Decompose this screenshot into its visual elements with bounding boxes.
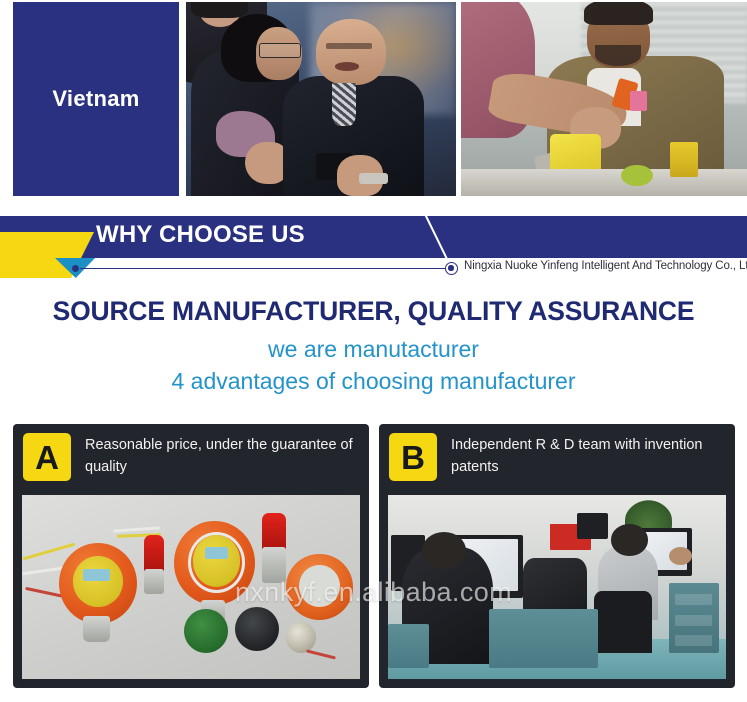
- demo-customer-hair: [584, 2, 653, 25]
- office-cubicle-partition-left: [388, 624, 429, 668]
- product-detector-left-lcd: [83, 569, 110, 582]
- office-cabinet-drawer-2: [675, 615, 712, 626]
- demo-sensor-probe-tip: [630, 91, 647, 110]
- headline-block: SOURCE MANUFACTURER, QUALITY ASSURANCE w…: [0, 296, 747, 397]
- card-a-title: Reasonable price, under the guarantee of…: [85, 435, 357, 479]
- demo-desk: [461, 169, 747, 196]
- meeting-client-brow: [326, 43, 372, 49]
- card-a-photo: [22, 495, 360, 679]
- meeting-client-mouth: [335, 62, 359, 71]
- demo-customer-beard: [595, 45, 641, 66]
- banner-start-dot-icon: [72, 265, 79, 272]
- card-a-badge: A: [23, 433, 71, 481]
- product-alarm-base-large: [262, 547, 286, 584]
- meeting-sales-rep-glasses: [259, 43, 302, 59]
- headline-main: SOURCE MANUFACTURER, QUALITY ASSURANCE: [0, 296, 747, 326]
- card-b-title: Independent R & D team with invention pa…: [451, 435, 723, 479]
- product-sensor-module: [286, 622, 316, 653]
- product-demo-photo: [461, 2, 747, 196]
- office-engineer-back-hand: [669, 547, 693, 565]
- office-engineer-foreground-head: [422, 532, 466, 569]
- card-a-header: A Reasonable price, under the guarantee …: [13, 424, 369, 490]
- meeting-client-watch: [359, 173, 389, 185]
- top-photo-strip: Vietnam: [0, 0, 747, 198]
- meeting-client-head: [316, 19, 386, 85]
- product-detector-shell-window: [299, 565, 340, 607]
- vietnam-label: Vietnam: [52, 86, 139, 112]
- banner-diagonal-slash: [424, 214, 450, 265]
- why-choose-us-banner: WHY CHOOSE US Ningxia Nuoke Yinfeng Inte…: [0, 216, 747, 278]
- office-monitor-far-back: [577, 513, 607, 539]
- product-pcb-black: [235, 607, 279, 651]
- office-chair-right: [594, 591, 651, 654]
- office-cubicle-partition-center: [489, 609, 597, 668]
- card-b-badge: B: [389, 433, 437, 481]
- advantage-card-a: A Reasonable price, under the guarantee …: [13, 424, 369, 688]
- banner-end-target-icon: [445, 262, 458, 275]
- meeting-bystander-hair: [191, 2, 248, 18]
- demo-calibration-can: [670, 142, 699, 177]
- headline-sub: we are manutacturer: [0, 334, 747, 365]
- banner-rule-line: [80, 268, 447, 269]
- business-meeting-photo: [186, 2, 456, 196]
- office-cabinet-drawer-1: [675, 594, 712, 605]
- meeting-client-tie: [332, 83, 356, 126]
- card-b-photo: [388, 495, 726, 679]
- vietnam-country-panel: Vietnam: [13, 2, 179, 196]
- meeting-sales-rep-hand: [245, 142, 288, 185]
- advantage-card-b: B Independent R & D team with invention …: [379, 424, 735, 688]
- product-detector-left-sensor-barrel: [83, 616, 110, 642]
- office-engineer-right-head: [611, 524, 648, 555]
- product-detector-right-display: [193, 535, 240, 587]
- product-detector-right-lcd: [205, 547, 229, 560]
- office-cabinet-drawer-3: [675, 635, 712, 646]
- product-alarm-base-small: [144, 569, 164, 595]
- headline-sub2: 4 advantages of choosing manufacturer: [0, 366, 747, 397]
- demo-green-item: [621, 165, 652, 186]
- card-b-header: B Independent R & D team with invention …: [379, 424, 735, 490]
- banner-title: WHY CHOOSE US: [96, 221, 305, 249]
- company-name: Ningxia Nuoke Yinfeng Intelligent And Te…: [464, 260, 747, 272]
